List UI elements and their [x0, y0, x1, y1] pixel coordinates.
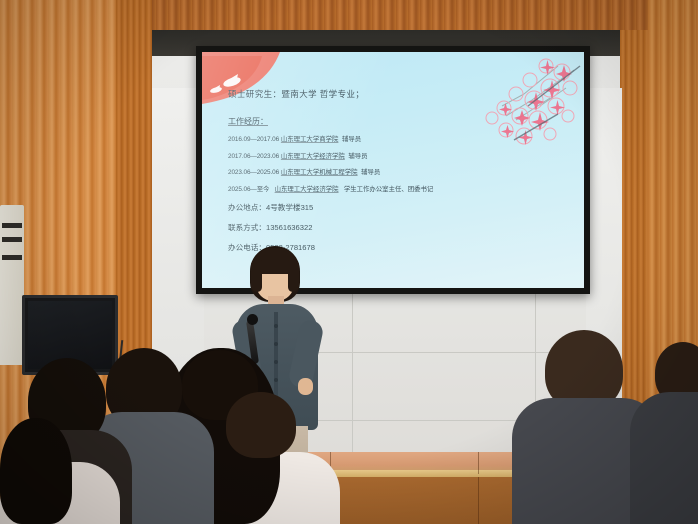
stage-seam [478, 452, 479, 474]
experience-row: 2016.09—2017.06 山东理工大学商学院 辅导员 [228, 134, 548, 143]
contact-value: 4号教学楼315 [266, 203, 313, 212]
experience-org: 山东理工大学机械工程学院 [281, 169, 358, 176]
experience-dates: 2023.06—2025.06 [228, 169, 279, 176]
presenter-hair-right [288, 260, 299, 292]
experience-org: 山东理工大学经济学院 [281, 153, 345, 160]
wall-panel-seam-v [352, 294, 353, 472]
experience-row: 2025.06—至今 山东理工大学经济学院 学生工作办公室主任、团委书记 [228, 184, 548, 193]
slide-section-label: 工作经历： [228, 116, 268, 127]
experience-row: 2023.06—2025.06 山东理工大学机械工程学院 辅导员 [228, 167, 548, 176]
experience-row: 2017.06—2023.06 山东理工大学经济学院 辅导员 [228, 151, 548, 160]
ac-vent [2, 255, 22, 260]
contact-label: 联系方式： [228, 223, 266, 232]
contact-value: 13561636322 [266, 223, 312, 232]
ac-vent [2, 223, 22, 228]
experience-org: 山东理工大学商学院 [281, 136, 339, 143]
stage-seam [478, 477, 479, 524]
slide-title-line: 硕士研究生：暨南大学 哲学专业； [228, 88, 548, 100]
slide-text-block: 硕士研究生：暨南大学 哲学专业； 工作经历： 2016.09—2017.06 山… [228, 88, 548, 253]
wood-column-left-inner [116, 0, 152, 360]
ac-vent [2, 237, 22, 242]
presenter-hair-left [251, 260, 262, 292]
shirt-button [274, 360, 278, 364]
experience-role: 辅导员 [342, 136, 361, 143]
lecture-hall-scene: 硕士研究生：暨南大学 哲学专业； 工作经历： 2016.09—2017.06 山… [0, 0, 698, 524]
experience-org: 山东理工大学经济学院 [275, 186, 339, 193]
contact-row: 联系方式：13561636322 [228, 222, 548, 233]
experience-role: 辅导员 [361, 169, 380, 176]
microphone-head [247, 314, 258, 325]
shirt-button [274, 378, 278, 382]
air-conditioner-unit [0, 205, 24, 365]
shirt-button [274, 324, 278, 328]
experience-role: 学生工作办公室主任、团委书记 [344, 186, 433, 193]
experience-dates: 2025.06—至今 [228, 186, 269, 193]
shirt-button [274, 342, 278, 346]
contact-label: 办公地点： [228, 203, 266, 212]
experience-role: 辅导员 [348, 153, 367, 160]
experience-dates: 2016.09—2017.06 [228, 136, 279, 143]
presenter-hand-right [298, 378, 313, 395]
contact-row: 办公地点：4号教学楼315 [228, 202, 548, 213]
experience-dates: 2017.06—2023.06 [228, 153, 279, 160]
